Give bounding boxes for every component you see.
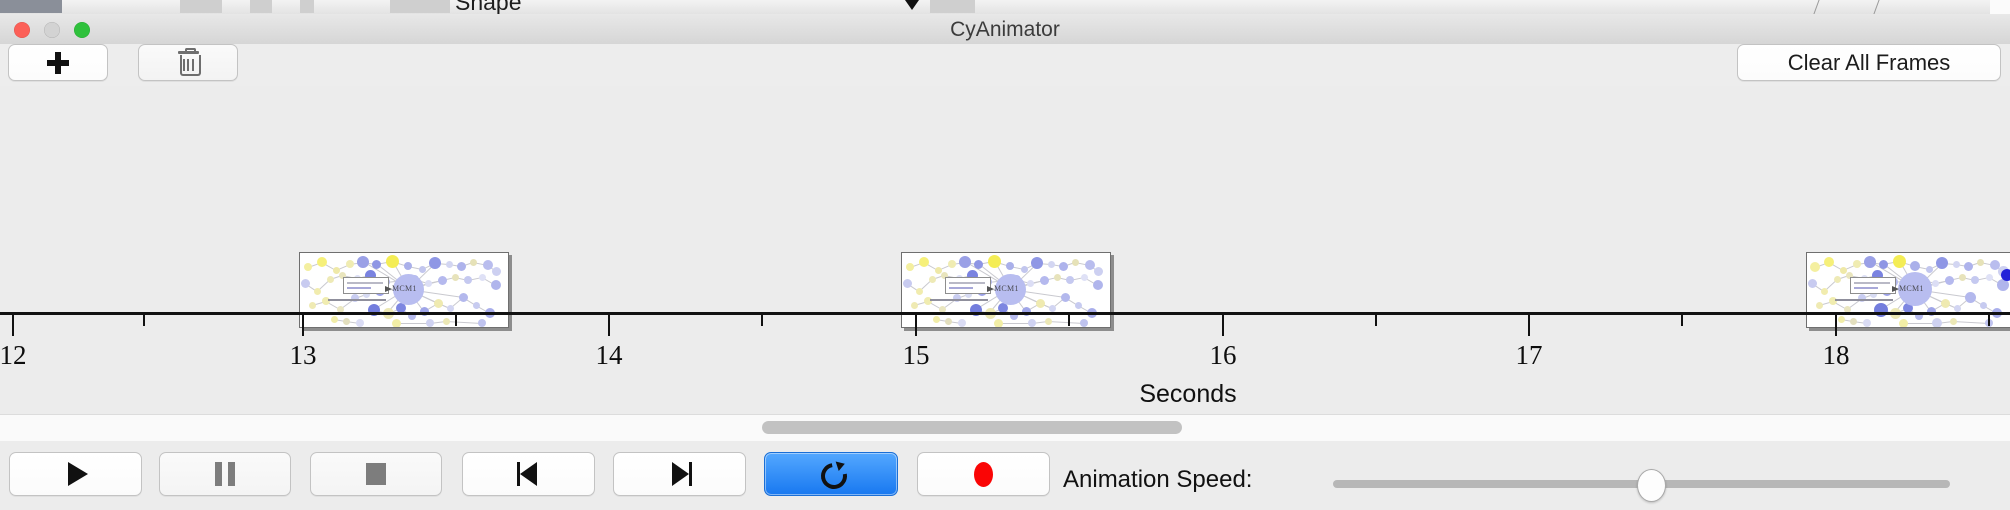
ruler-minor-tick [1988,315,1990,326]
network-node [309,302,316,309]
background-grey-block-4 [390,0,450,13]
stop-button[interactable] [310,452,442,496]
timeline-scrollbar[interactable] [0,414,2010,442]
skip-back-icon [517,462,541,486]
network-node [452,274,459,281]
network-tooltip-callout [343,277,389,294]
animation-speed-label: Animation Speed: [1063,466,1252,494]
background-grey-block-1 [180,0,222,13]
network-node [1821,288,1828,295]
network-node [473,302,480,309]
network-node [1094,267,1103,276]
network-node [1980,302,1987,309]
plus-icon [47,52,69,74]
network-node [1926,266,1933,273]
network-node [1932,280,1939,287]
network-node [1971,276,1979,284]
network-node [491,280,501,290]
background-grey-block-2 [250,0,272,13]
stop-icon [366,463,386,485]
network-tooltip-pointer [1892,286,1899,292]
timeline-panel[interactable]: MCM1MCM1MCM1 12131415161718Seconds [0,86,2010,414]
network-hub-label: MCM1 [1899,284,1924,293]
network-node [1977,259,1984,266]
network-node [1840,267,1847,274]
network-node [314,288,321,295]
cyanimator-window: Shape CyAnimator Clear All Frames MCM1MC… [0,0,2010,510]
ruler-minor-tick [761,315,763,326]
clear-all-frames-label: Clear All Frames [1788,50,1951,76]
background-right-segment [1990,0,2010,14]
network-node [1061,293,1070,302]
network-node [1072,259,1079,266]
ruler-minor-tick [143,315,145,326]
network-node [919,257,929,267]
ruler-tick-label: 15 [903,340,930,371]
network-tooltip-pointer [385,286,392,292]
background-grey-block-5 [930,0,975,13]
skip-to-end-button[interactable] [613,452,746,496]
play-button[interactable] [9,452,142,496]
trash-icon [178,51,199,75]
network-node [1959,274,1966,281]
network-node [372,260,381,269]
ruler-minor-tick [1375,315,1377,326]
pause-button[interactable] [159,452,291,496]
network-tooltip-pointer [987,286,994,292]
ruler-minor-tick [1068,315,1070,326]
network-node [1808,279,1817,288]
ruler-major-tick [1835,315,1837,336]
network-node [1048,261,1055,268]
network-node [1834,276,1841,283]
network-node [1021,266,1028,273]
network-node [357,256,369,268]
network-node [1954,305,1961,312]
network-node [1093,280,1103,290]
network-node [446,261,453,268]
network-node [974,260,983,269]
clear-all-frames-button[interactable]: Clear All Frames [1737,44,2001,81]
network-node [1816,302,1823,309]
network-node [1910,261,1920,271]
record-button[interactable] [917,452,1050,496]
network-node [1081,274,1088,281]
network-node [1853,260,1861,268]
delete-frame-button[interactable] [138,44,238,81]
network-node [386,255,399,268]
keyframe-strip[interactable]: MCM1MCM1MCM1 [0,86,2010,312]
network-node [1075,302,1082,309]
network-node [1986,274,1993,281]
record-icon [974,462,993,487]
background-grey-block-3 [300,0,314,13]
ruler-major-tick [915,315,917,336]
network-node [317,257,327,267]
background-caret-icon [905,0,919,10]
network-node [1066,276,1074,284]
network-node [903,279,912,288]
loop-button[interactable] [764,452,898,496]
ruler-tick-label: 17 [1516,340,1543,371]
add-frame-button[interactable] [8,44,108,81]
network-node [470,259,477,266]
network-node-highlighted [2001,269,2010,281]
network-node [1006,262,1014,270]
skip-forward-icon [668,462,692,486]
window-title: CyAnimator [0,14,2010,44]
network-node [1810,262,1820,272]
network-node [1036,299,1045,308]
title-bar: CyAnimator [0,14,2010,45]
skip-to-start-button[interactable] [462,452,595,496]
frame-toolbar [0,44,2010,87]
network-node [959,256,971,268]
network-node [425,280,432,287]
network-node [304,263,312,271]
ruler-tick-label: 13 [290,340,317,371]
scrollbar-thumb[interactable] [762,421,1182,434]
ruler-major-tick [608,315,610,336]
pause-icon [215,462,235,486]
ruler-major-tick [1528,315,1530,336]
network-node [457,262,466,271]
network-node [1031,257,1043,269]
network-caption-text [328,299,386,301]
network-node [929,276,936,283]
network-node [916,288,923,295]
ruler-tick-label: 18 [1823,340,1850,371]
network-node [1027,280,1034,287]
network-node [404,262,412,270]
network-node [301,279,310,288]
timeline-ruler: 12131415161718Seconds [0,312,2010,414]
network-node [327,276,334,283]
background-slash-1 [1810,0,1824,14]
network-node [333,267,340,274]
ruler-tick-label: 12 [0,340,27,371]
network-node [438,276,447,285]
network-node [479,274,486,281]
network-node [429,257,441,269]
network-node [1893,255,1906,268]
network-node [911,302,918,309]
ruler-axis-title: Seconds [1139,380,1236,409]
network-node [1040,276,1049,285]
play-icon [63,462,88,486]
network-node [1941,299,1950,308]
network-node [1965,292,1976,303]
background-peek-label: Shape [455,0,522,14]
network-node [988,255,1001,268]
transport-bar: Animation Speed: [0,441,2010,510]
network-node [1879,260,1888,269]
network-node [1864,256,1876,268]
network-node [1936,257,1948,269]
ruler-major-tick [12,315,14,336]
network-hub-label: MCM1 [392,284,417,293]
ruler-major-tick [1222,315,1224,336]
network-node [434,299,443,308]
ruler-tick-label: 14 [596,340,623,371]
network-node [1049,305,1056,312]
network-node [1945,276,1954,285]
ruler-tick-label: 16 [1210,340,1237,371]
network-node [1824,257,1834,267]
ruler-minor-tick [455,315,457,326]
network-node [492,267,501,276]
network-node [1059,262,1068,271]
network-tooltip-callout [945,277,991,294]
network-node [1964,262,1973,271]
network-node [1054,274,1061,281]
ruler-major-tick [302,315,304,336]
network-node [948,260,956,268]
network-node [419,266,426,273]
network-caption-text [930,299,988,301]
background-slash-2 [1870,0,1884,14]
network-node [1953,261,1960,268]
network-node [464,276,472,284]
loop-icon [818,461,844,487]
network-node [906,263,914,271]
animation-speed-slider-knob[interactable] [1637,469,1666,502]
network-node [447,305,454,312]
network-node [935,267,942,274]
background-window-strip: Shape [0,0,2010,14]
background-dark-block [0,0,62,13]
network-node [459,293,468,302]
network-caption-text [1835,299,1893,301]
network-node [346,260,354,268]
network-hub-label: MCM1 [994,284,1019,293]
network-tooltip-callout [1850,277,1896,294]
ruler-minor-tick [1681,315,1683,326]
